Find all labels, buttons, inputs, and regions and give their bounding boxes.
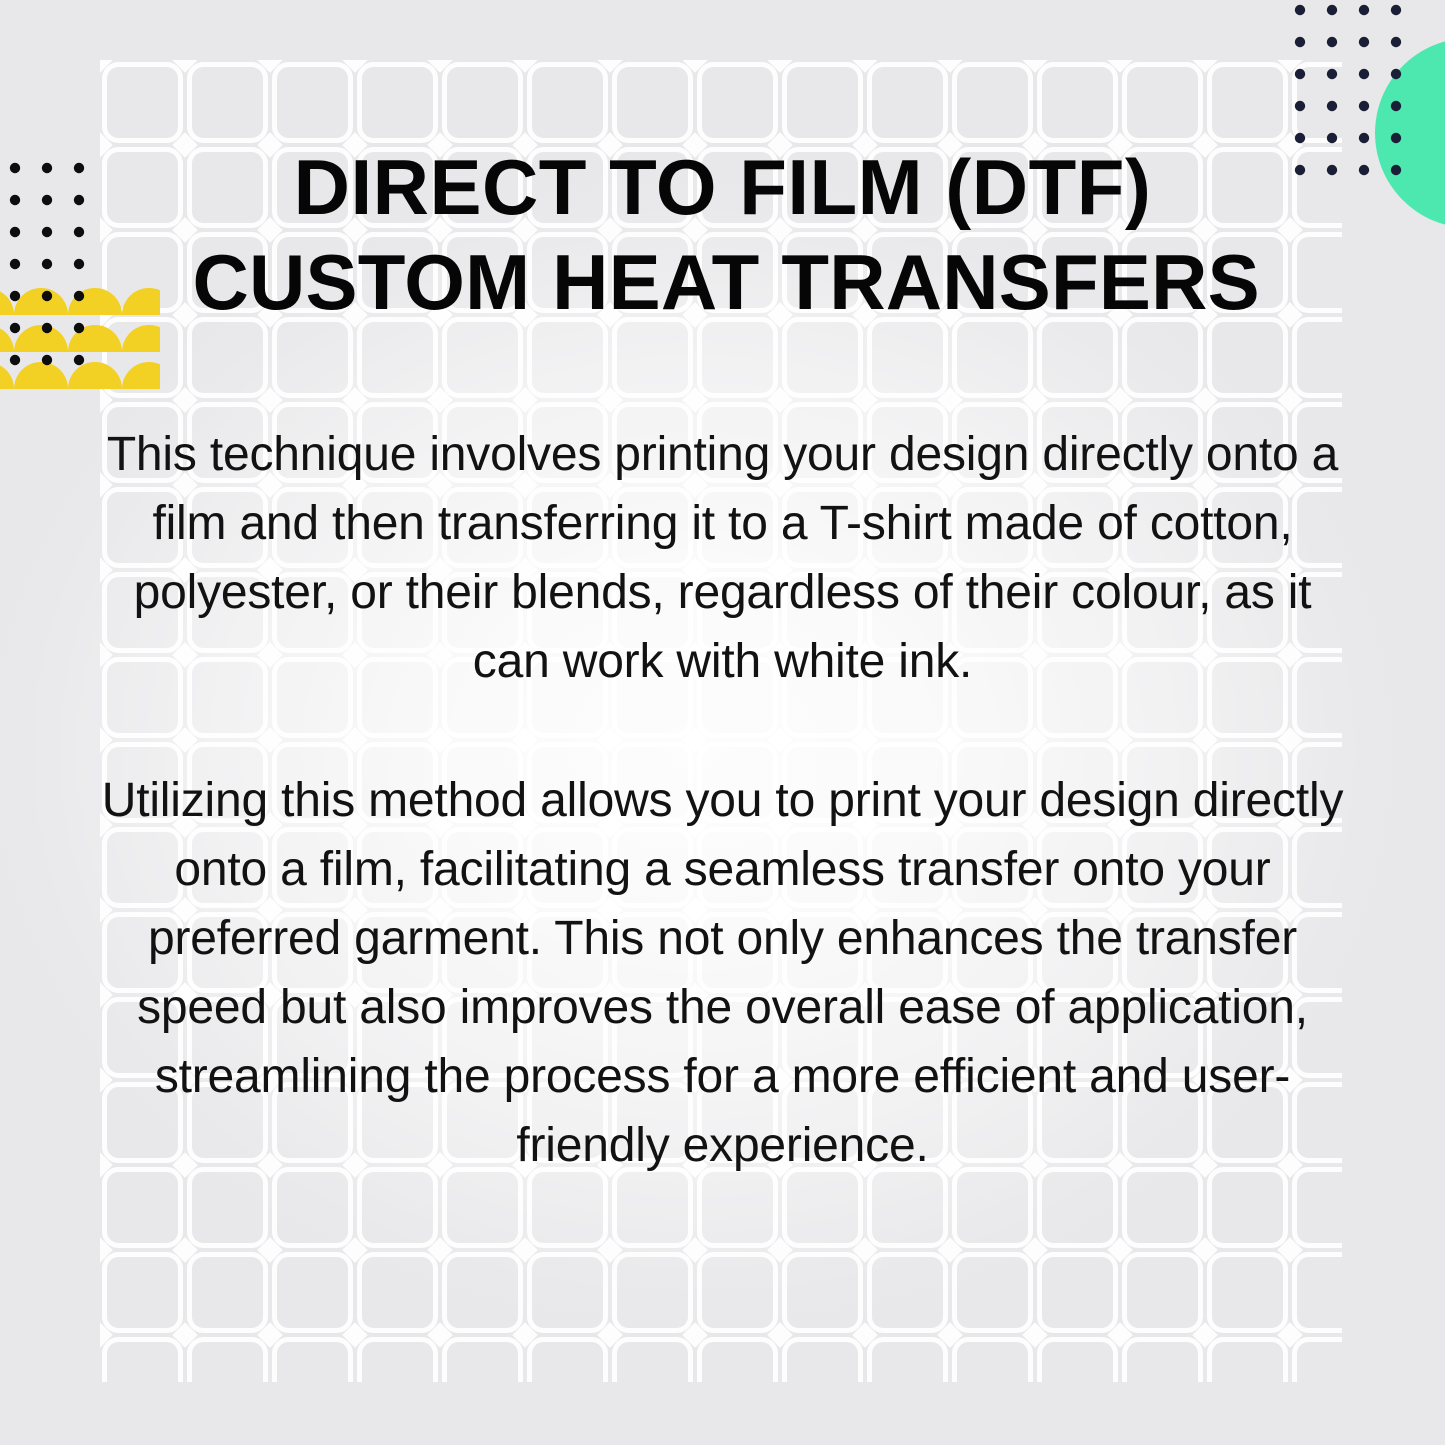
paragraph-one: This technique involves printing your de… [98, 420, 1348, 696]
page-title: DIRECT TO FILM (DTF) CUSTOM HEAT TRANSFE… [193, 140, 1253, 330]
poster-canvas: DIRECT TO FILM (DTF) CUSTOM HEAT TRANSFE… [0, 0, 1445, 1445]
paragraph-two: Utilizing this method allows you to prin… [88, 766, 1358, 1180]
poster-content: DIRECT TO FILM (DTF) CUSTOM HEAT TRANSFE… [0, 0, 1445, 1445]
title-line-1: DIRECT TO FILM (DTF) [193, 140, 1253, 235]
title-line-2: CUSTOM HEAT TRANSFERS [193, 235, 1253, 330]
body-copy: This technique involves printing your de… [88, 420, 1358, 1180]
